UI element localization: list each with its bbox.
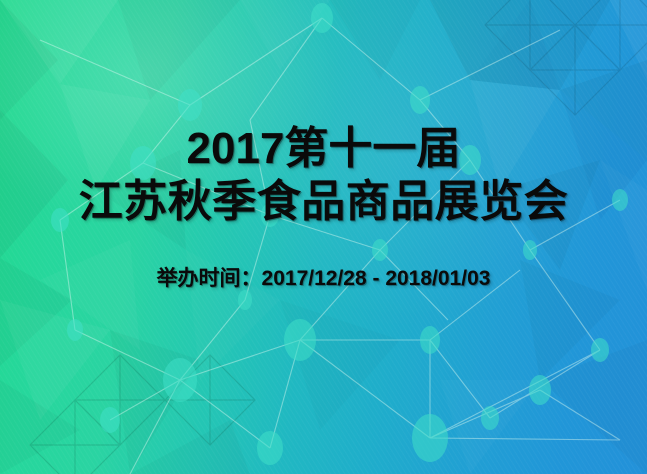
network-node-overlay <box>0 0 647 474</box>
event-banner: 2017第十一届 江苏秋季食品商品展览会 举办时间：2017/12/28 - 2… <box>0 0 647 474</box>
